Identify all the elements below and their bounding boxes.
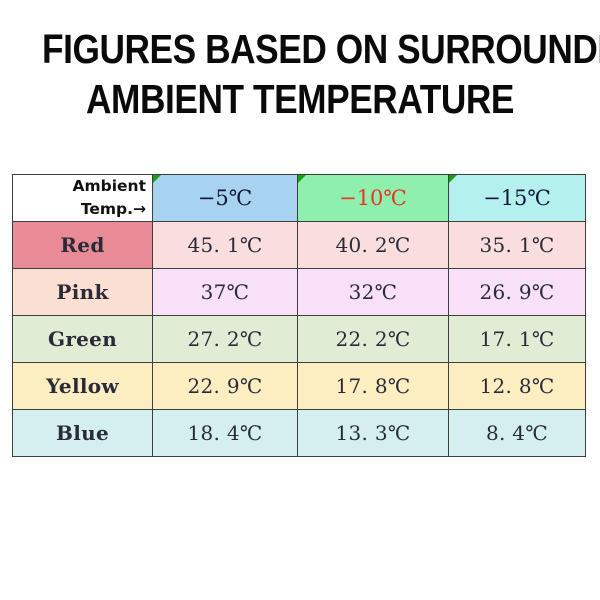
value-blue-minus-15: 8. 4℃: [449, 410, 586, 457]
value-red-minus-5: 45. 1℃: [153, 222, 298, 269]
ambient-temp-label-line-1: Ambient: [13, 175, 146, 198]
table-row: Red 45. 1℃ 40. 2℃ 35. 1℃: [13, 222, 586, 269]
table-header-row: Ambient Temp.→ −5℃ −10℃ −15℃: [13, 175, 586, 222]
column-header-label: −10℃: [339, 186, 407, 210]
column-header-minus-10: −10℃: [298, 175, 449, 222]
comment-flag-icon: [153, 175, 161, 183]
page-title-line-2: ambient temperature: [42, 74, 558, 124]
value-yellow-minus-5: 22. 9℃: [153, 363, 298, 410]
temperature-table-wrapper: Ambient Temp.→ −5℃ −10℃ −15℃: [12, 174, 585, 457]
value-yellow-minus-10: 17. 8℃: [298, 363, 449, 410]
page-root: Figures based on surrounding ambient tem…: [0, 0, 600, 600]
column-header-minus-15: −15℃: [449, 175, 586, 222]
comment-flag-icon: [298, 175, 306, 183]
comment-flag-icon: [449, 175, 457, 183]
page-title: Figures based on surrounding ambient tem…: [0, 24, 600, 124]
column-header-label: −15℃: [483, 186, 551, 210]
value-green-minus-15: 17. 1℃: [449, 316, 586, 363]
value-pink-minus-5: 37℃: [153, 269, 298, 316]
value-blue-minus-5: 18. 4℃: [153, 410, 298, 457]
ambient-temp-arrow-label: Temp.→: [13, 198, 146, 221]
ambient-temp-corner-cell: Ambient Temp.→: [13, 175, 153, 222]
column-header-label: −5℃: [198, 186, 252, 210]
value-green-minus-5: 27. 2℃: [153, 316, 298, 363]
value-pink-minus-15: 26. 9℃: [449, 269, 586, 316]
row-label-red: Red: [13, 222, 153, 269]
value-green-minus-10: 22. 2℃: [298, 316, 449, 363]
value-red-minus-15: 35. 1℃: [449, 222, 586, 269]
column-header-minus-5: −5℃: [153, 175, 298, 222]
temperature-table: Ambient Temp.→ −5℃ −10℃ −15℃: [12, 174, 586, 457]
row-label-green: Green: [13, 316, 153, 363]
value-yellow-minus-15: 12. 8℃: [449, 363, 586, 410]
row-label-pink: Pink: [13, 269, 153, 316]
table-row: Pink 37℃ 32℃ 26. 9℃: [13, 269, 586, 316]
page-title-line-1: Figures based on surrounding: [42, 24, 558, 74]
value-red-minus-10: 40. 2℃: [298, 222, 449, 269]
table-row: Blue 18. 4℃ 13. 3℃ 8. 4℃: [13, 410, 586, 457]
value-blue-minus-10: 13. 3℃: [298, 410, 449, 457]
row-label-yellow: Yellow: [13, 363, 153, 410]
value-pink-minus-10: 32℃: [298, 269, 449, 316]
row-label-blue: Blue: [13, 410, 153, 457]
table-row: Green 27. 2℃ 22. 2℃ 17. 1℃: [13, 316, 586, 363]
table-row: Yellow 22. 9℃ 17. 8℃ 12. 8℃: [13, 363, 586, 410]
